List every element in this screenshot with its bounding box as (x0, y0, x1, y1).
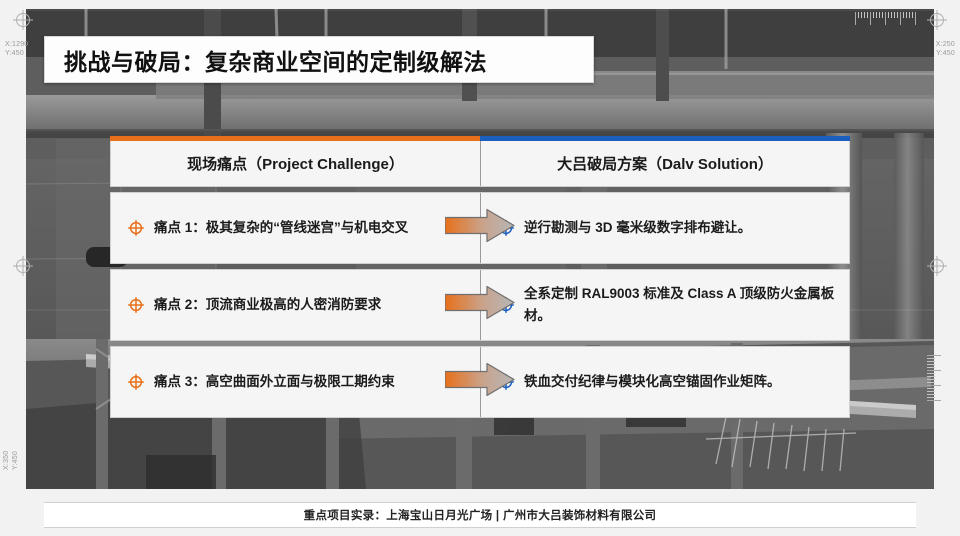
table-header-row: 现场痛点（Project Challenge） 大吕破局方案（Dalv Solu… (110, 141, 850, 187)
comparison-table: 现场痛点（Project Challenge） 大吕破局方案（Dalv Solu… (110, 136, 850, 418)
ruler-tick (867, 12, 868, 18)
solution-cell: 全系定制 RAL9003 标准及 Class A 顶级防火金属板材。 (480, 270, 849, 340)
registration-mark-icon (12, 9, 34, 31)
ruler-tick (900, 12, 901, 25)
ruler-tick (927, 358, 935, 359)
ruler-tick (927, 397, 935, 398)
ruler-tick (915, 12, 916, 25)
coord-x-value: X:250 (936, 40, 955, 49)
challenge-text: 痛点 1：极其复杂的“管线迷宫”与机电交叉 (154, 217, 408, 239)
registration-mark-icon (926, 9, 948, 31)
target-crosshair-icon-blue (497, 219, 515, 237)
ruler-tick (873, 12, 874, 18)
ruler-tick (894, 12, 895, 18)
ruler-tick (888, 12, 889, 18)
coord-y-value: Y:450 (936, 49, 955, 58)
ruler-tick (927, 400, 941, 401)
solution-text: 铁血交付纪律与模块化高空锚固作业矩阵。 (524, 371, 781, 393)
solution-text: 全系定制 RAL9003 标准及 Class A 顶级防火金属板材。 (524, 283, 835, 326)
solution-cell: 铁血交付纪律与模块化高空锚固作业矩阵。 (480, 347, 849, 417)
ruler-tick (861, 12, 862, 18)
ruler-tick (927, 382, 935, 383)
ruler-tick (927, 385, 941, 386)
ruler-tick (927, 373, 935, 374)
ruler-tick (927, 391, 935, 392)
coord-x-value: X:1290 (5, 40, 28, 49)
target-crosshair-icon-orange (127, 373, 145, 391)
coord-y-value: Y:450 (11, 451, 20, 470)
ruler-tick (927, 364, 935, 365)
challenge-text: 痛点 3：高空曲面外立面与极限工期约束 (154, 371, 395, 393)
challenge-cell: 痛点 1：极其复杂的“管线迷宫”与机电交叉 (111, 193, 480, 263)
ruler-tick (891, 12, 892, 18)
ruler-tick (882, 12, 883, 18)
column-header-challenge-label: 现场痛点（Project Challenge） (187, 153, 404, 174)
ruler-scale-right (927, 355, 942, 403)
ruler-tick (864, 12, 865, 18)
target-crosshair-icon-blue (497, 296, 515, 314)
coord-x-value: X:350 (2, 451, 11, 470)
solution-text: 逆行勘测与 3D 毫米级数字排布避让。 (524, 217, 751, 239)
footer-caption: 重点项目实录：上海宝山日月光广场 | 广州市大吕装饰材料有限公司 (304, 507, 657, 523)
ruler-tick (855, 12, 856, 25)
coord-y-value: Y:450 (5, 49, 28, 58)
target-crosshair-icon-blue (497, 373, 515, 391)
table-row: 痛点 1：极其复杂的“管线迷宫”与机电交叉 (110, 192, 850, 264)
target-crosshair-icon-orange (127, 219, 145, 237)
challenge-cell: 痛点 3：高空曲面外立面与极限工期约束 (111, 347, 480, 417)
column-header-challenge: 现场痛点（Project Challenge） (111, 141, 480, 186)
ruler-tick (909, 12, 910, 18)
slide-canvas: X:1290 Y:450 X:250 Y:450 X:350 Y:450 (0, 0, 960, 536)
column-header-solution-label: 大吕破局方案（Dalv Solution） (557, 153, 773, 174)
challenge-cell: 痛点 2：顶流商业极高的人密消防要求 (111, 270, 480, 340)
solution-cell: 逆行勘测与 3D 毫米级数字排布避让。 (480, 193, 849, 263)
challenge-text: 痛点 2：顶流商业极高的人密消防要求 (154, 294, 381, 316)
ruler-tick (858, 12, 859, 18)
coordinate-label-top-right: X:250 Y:450 (936, 40, 955, 58)
coordinate-label-top-left: X:1290 Y:450 (5, 40, 28, 58)
registration-mark-icon (926, 255, 948, 277)
registration-mark-icon (12, 255, 34, 277)
ruler-tick (927, 394, 935, 395)
ruler-tick (927, 379, 935, 380)
ruler-tick (879, 12, 880, 18)
target-crosshair-icon-orange (127, 296, 145, 314)
title-banner: 挑战与破局：复杂商业空间的定制级解法 (44, 36, 594, 83)
table-row: 痛点 2：顶流商业极高的人密消防要求 (110, 269, 850, 341)
ruler-tick (906, 12, 907, 18)
ruler-tick (927, 361, 935, 362)
ruler-tick (927, 388, 935, 389)
ruler-tick (912, 12, 913, 18)
ruler-tick (927, 355, 941, 356)
ruler-tick (876, 12, 877, 18)
ruler-tick (870, 12, 871, 25)
ruler-tick (885, 12, 886, 25)
ruler-tick (927, 376, 935, 377)
ruler-tick (927, 367, 935, 368)
ruler-scale-top (855, 12, 918, 27)
ruler-tick (927, 370, 941, 371)
column-header-solution: 大吕破局方案（Dalv Solution） (480, 141, 849, 186)
coordinate-label-bottom-left: X:350 Y:450 (2, 451, 20, 470)
ruler-tick (897, 12, 898, 18)
table-row: 痛点 3：高空曲面外立面与极限工期约束 (110, 346, 850, 418)
footer-bar: 重点项目实录：上海宝山日月光广场 | 广州市大吕装饰材料有限公司 (44, 502, 916, 528)
ruler-tick (903, 12, 904, 18)
page-title: 挑战与破局：复杂商业空间的定制级解法 (45, 43, 487, 77)
